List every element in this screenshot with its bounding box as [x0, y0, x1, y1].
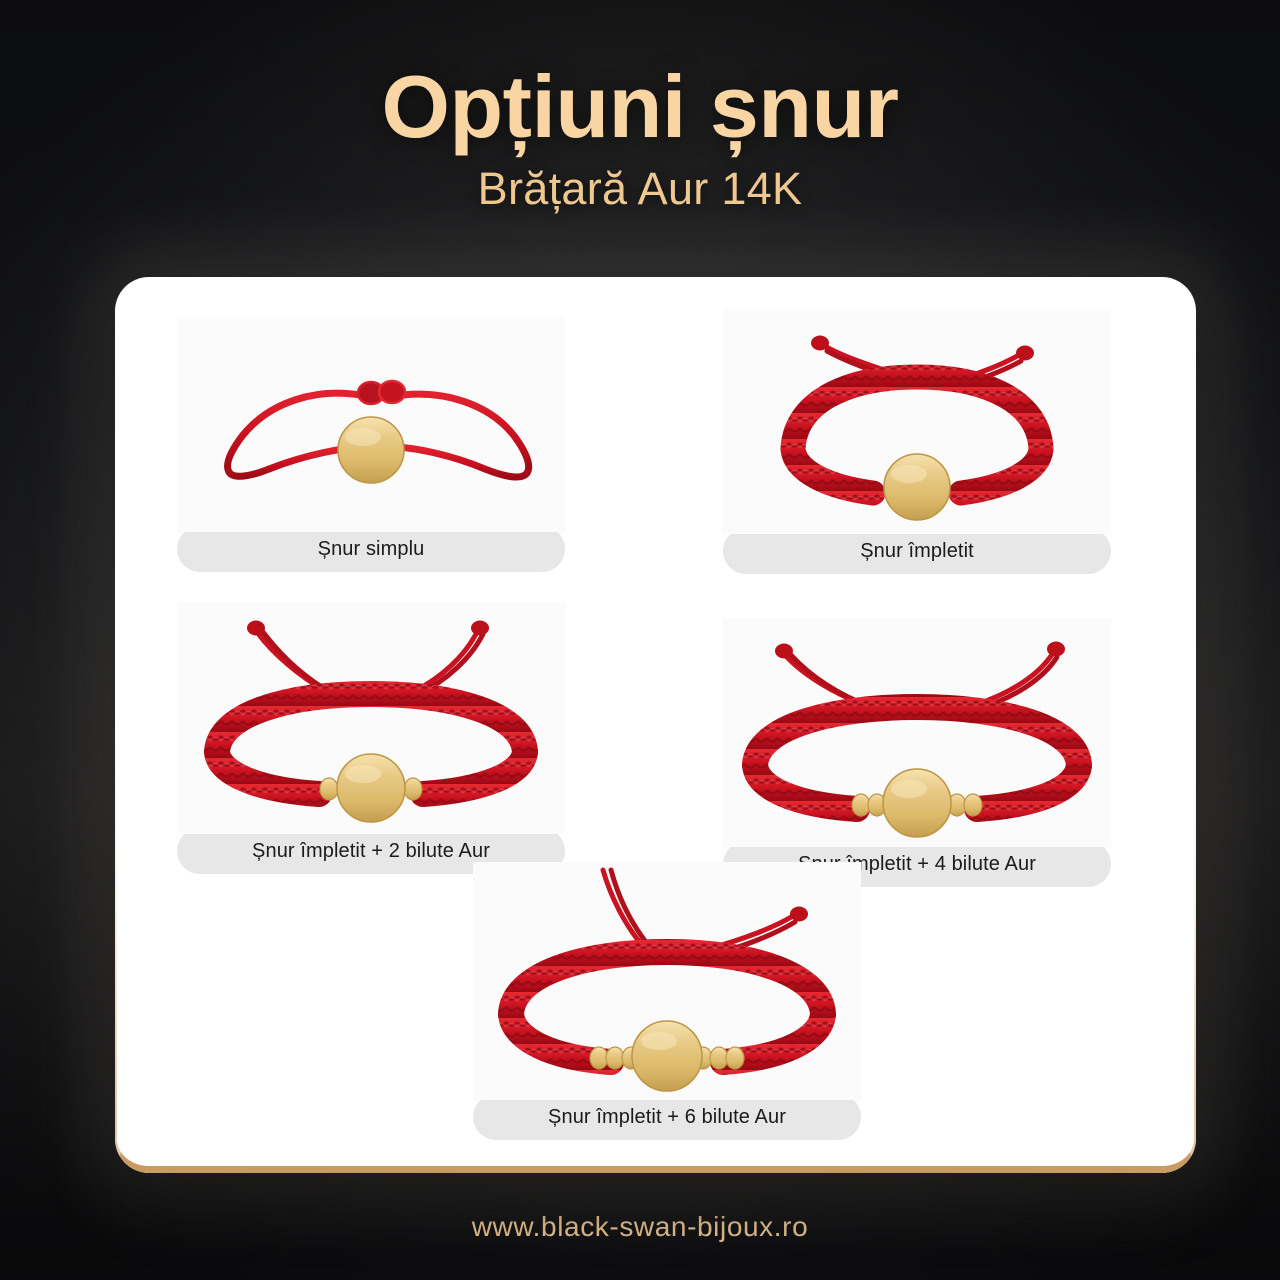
- product-options-grid: Șnur simplu: [115, 277, 1196, 1173]
- product-option-tile[interactable]: Șnur împletit + 2 bilute Aur: [177, 602, 565, 874]
- product-option-label: Șnur simplu: [177, 526, 565, 572]
- footer: www.black-swan-bijoux.ro: [0, 1173, 1280, 1280]
- product-option-tile[interactable]: Șnur împletit + 6 bilute Aur: [473, 862, 861, 1140]
- bracelet-braided-cord-icon: [723, 309, 1111, 534]
- header: Opțiuni șnur Brățară Aur 14K: [0, 0, 1280, 262]
- bracelet-braided-4-beads-icon: [723, 619, 1111, 847]
- product-option-tile[interactable]: Șnur simplu: [177, 317, 565, 572]
- bracelet-braided-6-beads-icon: [473, 862, 861, 1100]
- product-option-tile[interactable]: Șnur împletit + 4 bilute Aur: [723, 619, 1111, 887]
- bracelet-braided-2-beads-icon: [177, 602, 565, 834]
- bracelet-simple-cord-icon: [177, 317, 565, 532]
- page-title: Opțiuni șnur: [381, 61, 898, 153]
- product-option-label: Șnur împletit + 6 bilute Aur: [473, 1094, 861, 1140]
- product-option-label: Șnur împletit: [723, 528, 1111, 574]
- product-option-tile[interactable]: Șnur împletit: [723, 309, 1111, 574]
- page-subtitle: Brățară Aur 14K: [478, 163, 803, 215]
- website-url[interactable]: www.black-swan-bijoux.ro: [472, 1211, 809, 1243]
